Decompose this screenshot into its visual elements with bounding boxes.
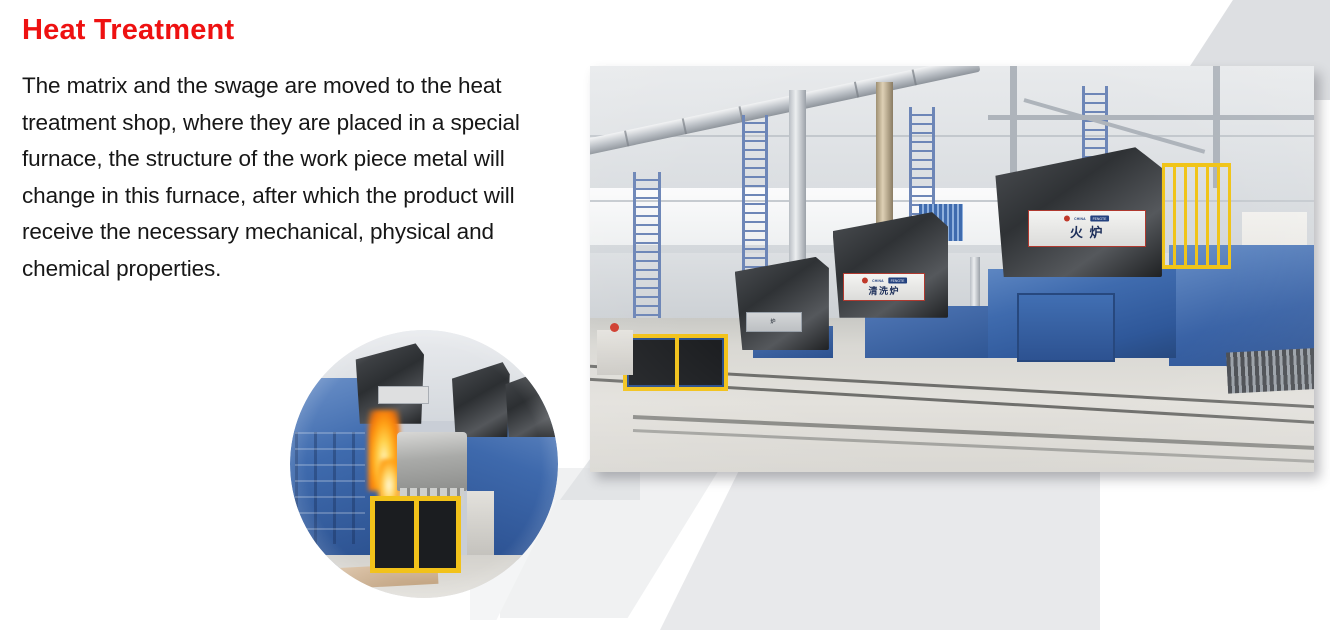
text-column: Heat Treatment The matrix and the swage … (22, 8, 567, 287)
closeup-piping (295, 432, 365, 545)
floor-rail-2 (590, 377, 1314, 425)
furnace-sign-mid-label: 清洗炉 (868, 284, 900, 297)
furnace-body-left (753, 326, 833, 358)
wall-seam-1 (590, 135, 1314, 137)
wall-ladder-1 (633, 172, 661, 326)
furnace-sign-mid: CHINA FENGTE 清洗炉 (843, 273, 925, 301)
closeup-loading-cage (370, 496, 460, 573)
page-title: Heat Treatment (22, 8, 567, 52)
brand-dot-icon (1064, 216, 1070, 222)
furnace-sign-right-label: 火 炉 (1070, 222, 1104, 241)
exhaust-stack-2 (876, 82, 893, 309)
furnace-body-right (1169, 245, 1314, 367)
main-factory-photo: CHINA FENGTE 火 炉 CHINA FENGTE 清洗炉 炉 (590, 66, 1314, 472)
structural-column-1 (1010, 66, 1017, 257)
factory-scene: CHINA FENGTE 火 炉 CHINA FENGTE 清洗炉 炉 (590, 66, 1314, 472)
furnace-sign-left: 炉 (746, 312, 802, 332)
floor-rail-4 (633, 429, 1314, 464)
exhaust-stack-1 (789, 90, 806, 285)
circular-furnace-photo (290, 330, 558, 598)
exhaust-stack-3 (927, 261, 937, 318)
furnace-sign-left-label: 炉 (771, 318, 778, 325)
decorative-polygon-bottom-right (660, 470, 1100, 630)
floor-rail-1 (590, 364, 1314, 409)
furnace-sign-right: CHINA FENGTE 火 炉 (1028, 210, 1146, 247)
structural-beam (988, 115, 1314, 120)
exhaust-stack-4 (970, 257, 980, 318)
far-doorway (1242, 212, 1307, 334)
hall-wall-lower (590, 253, 1314, 318)
hall-wall-upper (590, 66, 1314, 253)
sign-logo-row: CHINA FENGTE (1064, 216, 1109, 222)
loading-cage-yellow (623, 334, 729, 391)
extraction-hood-left (735, 257, 829, 350)
brand-badge: FENGTE (1091, 216, 1110, 222)
brand-mark-text-mid: CHINA (872, 279, 884, 283)
brand-mark-text: CHINA (1075, 217, 1087, 221)
perforated-panel (919, 204, 962, 241)
wall-ladder-4 (1082, 86, 1108, 232)
safety-railing-yellow (1162, 163, 1231, 268)
structural-column-2 (1213, 66, 1220, 188)
ceiling-duct (590, 66, 981, 159)
structural-brace (1024, 99, 1206, 155)
hall-wall-light (590, 188, 1010, 245)
sign-logo-row-mid: CHINA FENGTE (862, 278, 907, 284)
shop-floor (590, 318, 1314, 472)
body-paragraph: The matrix and the swage are moved to th… (22, 68, 567, 287)
floor-rail-3 (633, 415, 1314, 451)
wall-seam-2 (590, 200, 1314, 202)
wall-ladder-3 (909, 107, 935, 286)
brand-dot-icon-mid (862, 278, 868, 284)
control-cabinet (597, 330, 633, 375)
extraction-hood-right (995, 147, 1162, 277)
furnace-door (1017, 293, 1115, 362)
brand-badge-mid: FENGTE (888, 278, 907, 284)
closeup-control-cabinet (467, 491, 494, 558)
furnace-body-mid (865, 306, 988, 359)
furnace-body-center (988, 269, 1176, 358)
wall-ladder-2 (742, 115, 768, 277)
furnace-closeup-scene (290, 330, 558, 598)
closeup-furnace-sign (378, 386, 428, 404)
roller-conveyor (1226, 348, 1314, 394)
work-piece (397, 432, 467, 491)
extraction-hood-mid (833, 212, 949, 318)
